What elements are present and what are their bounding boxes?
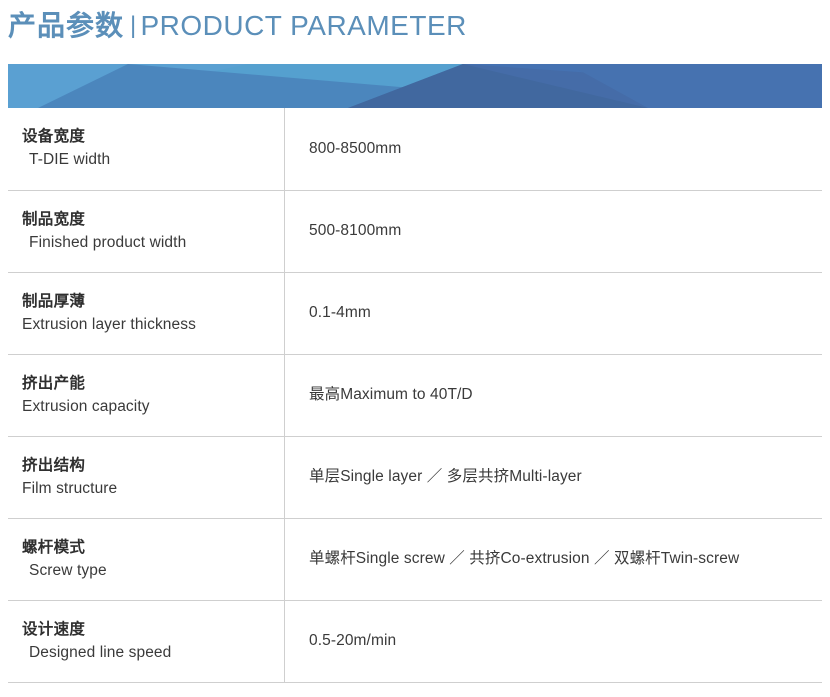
table-body: 设备宽度 T-DIE width 800-8500mm 制品宽度 Finishe… <box>8 108 822 682</box>
table-row: 挤出产能 Extrusion capacity 最高Maximum to 40T… <box>8 354 822 436</box>
parameter-value: 0.1-4mm <box>309 302 822 324</box>
parameter-label-en: Film structure <box>22 477 284 501</box>
parameter-value: 0.5-20m/min <box>309 630 822 652</box>
page-title-en: PRODUCT PARAMETER <box>140 10 466 41</box>
product-parameter-table: 设备宽度 T-DIE width 800-8500mm 制品宽度 Finishe… <box>8 108 822 683</box>
parameter-label-en: T-DIE width <box>22 148 284 172</box>
table-row: 挤出结构 Film structure 单层Single layer ／ 多层共… <box>8 436 822 518</box>
parameter-label-cn: 螺杆模式 <box>22 536 284 559</box>
parameter-label-cn: 设计速度 <box>22 618 284 641</box>
parameter-value: 500-8100mm <box>309 220 822 242</box>
parameter-value-cell: 500-8100mm <box>285 190 823 272</box>
parameter-label-en: Extrusion layer thickness <box>22 313 284 337</box>
parameter-value-cell: 800-8500mm <box>285 108 823 190</box>
parameter-label-cell: 设计速度 Designed line speed <box>8 600 285 682</box>
parameter-label-cell: 挤出产能 Extrusion capacity <box>8 354 285 436</box>
table-row: 螺杆模式 Screw type 单螺杆Single screw ／ 共挤Co-e… <box>8 518 822 600</box>
parameter-value: 最高Maximum to 40T/D <box>309 384 822 406</box>
parameter-value: 单螺杆Single screw ／ 共挤Co-extrusion ／ 双螺杆Tw… <box>309 548 822 570</box>
parameter-label-cn: 挤出结构 <box>22 454 284 477</box>
page-title: 产品参数|PRODUCT PARAMETER <box>8 9 467 45</box>
parameter-label-cn: 设备宽度 <box>22 125 284 148</box>
parameter-value-cell: 单螺杆Single screw ／ 共挤Co-extrusion ／ 双螺杆Tw… <box>285 518 823 600</box>
parameter-label-cell: 设备宽度 T-DIE width <box>8 108 285 190</box>
parameter-label-en: Screw type <box>22 559 284 583</box>
parameter-value-cell: 最高Maximum to 40T/D <box>285 354 823 436</box>
table-row: 设备宽度 T-DIE width 800-8500mm <box>8 108 822 190</box>
parameter-value-cell: 单层Single layer ／ 多层共挤Multi-layer <box>285 436 823 518</box>
parameter-label-cn: 制品宽度 <box>22 208 284 231</box>
banner-facets-graphic <box>8 64 822 108</box>
parameter-label-en: Finished product width <box>22 231 284 255</box>
parameter-value-cell: 0.5-20m/min <box>285 600 823 682</box>
parameter-value: 800-8500mm <box>309 138 822 160</box>
parameter-label-cn: 制品厚薄 <box>22 290 284 313</box>
parameter-value: 单层Single layer ／ 多层共挤Multi-layer <box>309 466 822 488</box>
table-row: 制品厚薄 Extrusion layer thickness 0.1-4mm <box>8 272 822 354</box>
page-title-separator: | <box>124 12 140 39</box>
table-row: 制品宽度 Finished product width 500-8100mm <box>8 190 822 272</box>
parameter-label-en: Extrusion capacity <box>22 395 284 419</box>
parameter-value-cell: 0.1-4mm <box>285 272 823 354</box>
parameter-label-cell: 挤出结构 Film structure <box>8 436 285 518</box>
parameter-label-cn: 挤出产能 <box>22 372 284 395</box>
parameter-label-en: Designed line speed <box>22 641 284 665</box>
page-title-cn: 产品参数 <box>8 10 124 41</box>
parameter-label-cell: 螺杆模式 Screw type <box>8 518 285 600</box>
parameter-label-cell: 制品厚薄 Extrusion layer thickness <box>8 272 285 354</box>
table-row: 设计速度 Designed line speed 0.5-20m/min <box>8 600 822 682</box>
decorative-banner <box>8 64 822 108</box>
parameter-label-cell: 制品宽度 Finished product width <box>8 190 285 272</box>
